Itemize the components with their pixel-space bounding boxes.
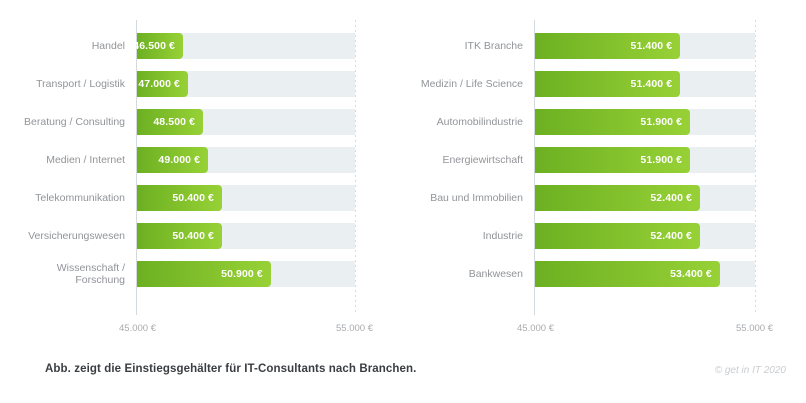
x-tick-min: 45.000 € [517, 323, 554, 334]
bar-value-label: 52.400 € [650, 223, 692, 249]
bar-row[interactable]: Bau und Immobilien 52.400 € [535, 185, 755, 211]
bar-fill: 51.900 € [535, 109, 690, 135]
category-label: ITK Branche [363, 33, 523, 59]
category-label: Telekommunikation [0, 185, 125, 211]
chart-panels: Handel 46.500 € Transport / Logistik 47.… [0, 0, 806, 345]
category-label: Automobilindustrie [363, 109, 523, 135]
bar-fill: 46.500 € [137, 33, 183, 59]
bar-fill: 52.400 € [535, 223, 700, 249]
plot-area-left: Handel 46.500 € Transport / Logistik 47.… [137, 20, 355, 315]
bar-value-label: 46.500 € [133, 33, 175, 59]
x-tick-min: 45.000 € [119, 323, 156, 334]
bar-value-label: 50.400 € [172, 185, 214, 211]
bar-fill: 49.000 € [137, 147, 208, 173]
bar-row[interactable]: Telekommunikation 50.400 € [137, 185, 355, 211]
bar-value-label: 51.400 € [631, 33, 673, 59]
chart-panel-right: ITK Branche 51.400 € Medizin / Life Scie… [403, 0, 806, 345]
category-label: Wissenschaft / Forschung [0, 261, 125, 287]
x-axis-ticks-right: 45.000 € 55.000 € [535, 315, 755, 335]
bar-row[interactable]: Energiewirtschaft 51.900 € [535, 147, 755, 173]
figure-caption: Abb. zeigt die Einstiegsgehälter für IT-… [45, 363, 416, 375]
bar-fill: 50.400 € [137, 185, 222, 211]
bar-value-label: 52.400 € [650, 185, 692, 211]
bar-row[interactable]: Handel 46.500 € [137, 33, 355, 59]
bar-row[interactable]: Industrie 52.400 € [535, 223, 755, 249]
bar-row[interactable]: Versicherungswesen 50.400 € [137, 223, 355, 249]
plot-area-right: ITK Branche 51.400 € Medizin / Life Scie… [535, 20, 755, 315]
category-label: Medizin / Life Science [363, 71, 523, 97]
category-label: Bau und Immobilien [363, 185, 523, 211]
bar-fill: 50.400 € [137, 223, 222, 249]
x-tick-max: 55.000 € [736, 323, 773, 334]
category-label: Transport / Logistik [0, 71, 125, 97]
bar-value-label: 51.900 € [640, 147, 682, 173]
x-axis-ticks-left: 45.000 € 55.000 € [137, 315, 355, 335]
category-label: Beratung / Consulting [0, 109, 125, 135]
bar-row[interactable]: Medizin / Life Science 51.400 € [535, 71, 755, 97]
bar-value-label: 51.900 € [640, 109, 682, 135]
bar-fill: 50.900 € [137, 261, 271, 287]
category-label: Handel [0, 33, 125, 59]
category-label: Energiewirtschaft [363, 147, 523, 173]
category-label: Medien / Internet [0, 147, 125, 173]
chart-panel-left: Handel 46.500 € Transport / Logistik 47.… [0, 0, 403, 345]
bar-value-label: 50.400 € [172, 223, 214, 249]
bar-rows-left: Handel 46.500 € Transport / Logistik 47.… [137, 33, 355, 299]
bar-row[interactable]: Bankwesen 53.400 € [535, 261, 755, 287]
bar-value-label: 47.000 € [138, 71, 180, 97]
bar-value-label: 50.900 € [221, 261, 263, 287]
bar-row[interactable]: ITK Branche 51.400 € [535, 33, 755, 59]
x-max-gridline [755, 20, 756, 315]
bar-row[interactable]: Medien / Internet 49.000 € [137, 147, 355, 173]
category-label: Industrie [363, 223, 523, 249]
bar-value-label: 53.400 € [670, 261, 712, 287]
bar-row[interactable]: Automobilindustrie 51.900 € [535, 109, 755, 135]
bar-value-label: 49.000 € [158, 147, 200, 173]
bar-row[interactable]: Transport / Logistik 47.000 € [137, 71, 355, 97]
bar-fill: 52.400 € [535, 185, 700, 211]
copyright-credit: © get in IT 2020 [715, 365, 786, 376]
bar-value-label: 48.500 € [153, 109, 195, 135]
bar-row[interactable]: Wissenschaft / Forschung 50.900 € [137, 261, 355, 287]
bar-fill: 51.400 € [535, 33, 680, 59]
x-max-gridline [355, 20, 356, 315]
chart-figure: Handel 46.500 € Transport / Logistik 47.… [0, 0, 806, 403]
category-label: Bankwesen [363, 261, 523, 287]
bar-fill: 51.900 € [535, 147, 690, 173]
bar-row[interactable]: Beratung / Consulting 48.500 € [137, 109, 355, 135]
category-label: Versicherungswesen [0, 223, 125, 249]
bar-fill: 51.400 € [535, 71, 680, 97]
bar-fill: 47.000 € [137, 71, 188, 97]
figure-footer: Abb. zeigt die Einstiegsgehälter für IT-… [0, 345, 806, 403]
x-tick-max: 55.000 € [336, 323, 373, 334]
bar-value-label: 51.400 € [631, 71, 673, 97]
bar-fill: 48.500 € [137, 109, 203, 135]
bar-fill: 53.400 € [535, 261, 720, 287]
bar-rows-right: ITK Branche 51.400 € Medizin / Life Scie… [535, 33, 755, 299]
